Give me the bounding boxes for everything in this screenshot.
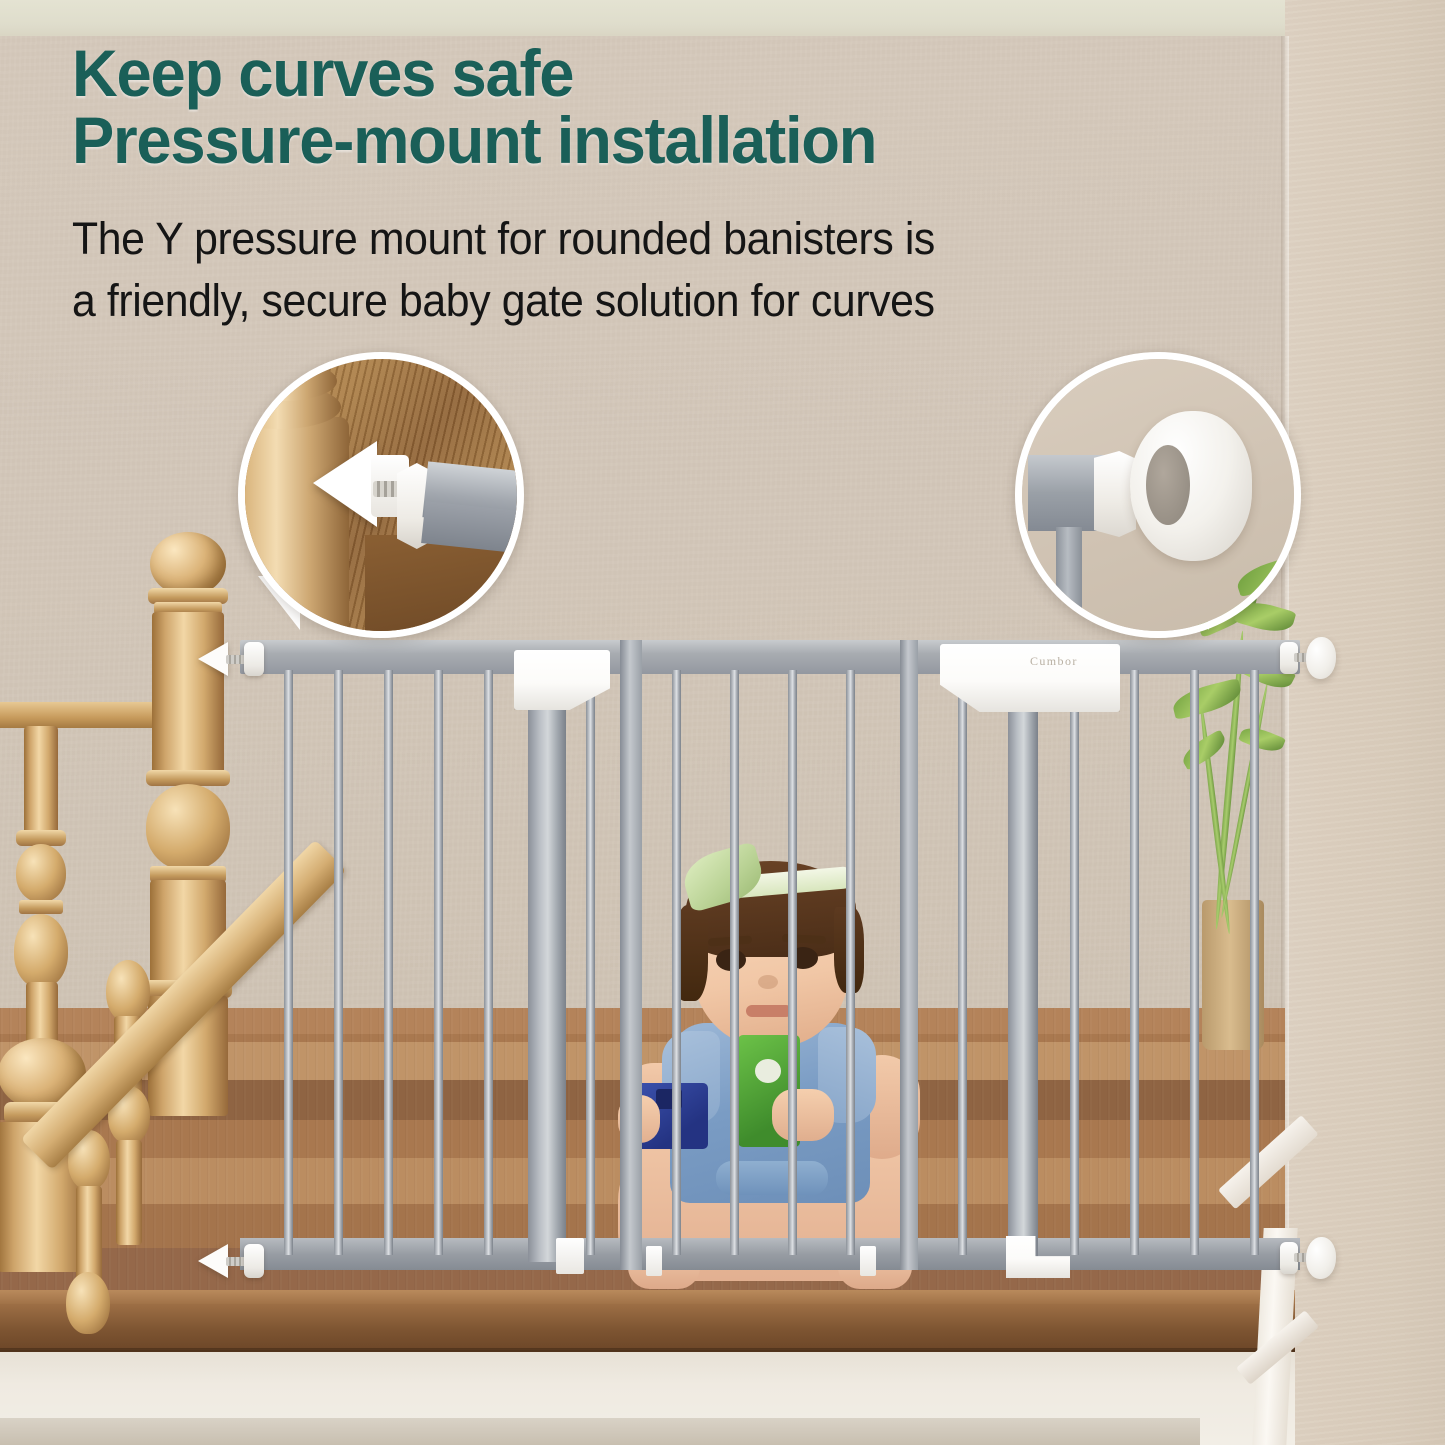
subhead-line-2: a friendly, secure baby gate solution fo…: [72, 270, 1241, 332]
page-title: Keep curves safe Pressure-mount installa…: [72, 40, 1205, 175]
ceiling-strip: [0, 0, 1445, 40]
newel-urn: [146, 784, 230, 870]
baluster-shaft: [76, 1186, 102, 1286]
gate-bar: [730, 670, 739, 1255]
gate-foot-clip: [646, 1246, 662, 1276]
baby-gate[interactable]: Cumbor: [240, 640, 1300, 1300]
gate-bar: [586, 670, 595, 1255]
gate-bar: [846, 670, 855, 1255]
headline-line-1: Keep curves safe: [72, 40, 1205, 107]
callout-right-gate-bar: [1056, 527, 1082, 627]
product-lifestyle-image: Cumbor: [0, 0, 1445, 1445]
gate-top-rail: [240, 640, 1300, 674]
gate-bar: [1130, 670, 1139, 1255]
gate-foot-clip: [860, 1246, 876, 1276]
gate-hinge-left-top: [514, 650, 610, 710]
gate-frame-post: [1008, 662, 1038, 1262]
baluster-urn: [66, 1272, 110, 1334]
gate-bar: [958, 670, 967, 1255]
gate-door-frame-right: [900, 640, 918, 1270]
page-subtitle: The Y pressure mount for rounded baniste…: [72, 208, 1241, 332]
headline-line-2: Pressure-mount installation: [72, 107, 1205, 174]
callout-right-cup-recess: [1146, 445, 1190, 525]
right-return-wall: [1285, 0, 1445, 1445]
baluster-shaft: [24, 726, 58, 844]
y-bracket-bottom-left-icon: [198, 1244, 228, 1278]
callout-right: [1015, 352, 1301, 638]
gate-bar: [672, 670, 681, 1255]
gate-bottom-rail: [240, 1238, 1300, 1270]
gate-bar: [788, 670, 797, 1255]
gate-foot-clip: [556, 1238, 584, 1274]
handrail-flat: [0, 702, 165, 728]
brand-label: Cumbor: [1030, 654, 1078, 669]
gate-bar: [1070, 670, 1079, 1255]
gate-bar: [1190, 670, 1199, 1255]
gate-bar: [334, 670, 343, 1255]
subhead-line-1: The Y pressure mount for rounded baniste…: [72, 208, 1241, 270]
gate-bar: [484, 670, 493, 1255]
gate-door-frame-left: [620, 640, 642, 1270]
mount-knob-bottom-left[interactable]: [244, 1244, 264, 1278]
callout-left-y-bracket-icon: [313, 441, 377, 527]
callout-left: [238, 352, 524, 638]
wall-cup-bottom-right: [1306, 1237, 1336, 1279]
gate-bar: [434, 670, 443, 1255]
gate-bar: [384, 670, 393, 1255]
mount-knob-top-left[interactable]: [244, 642, 264, 676]
wall-cup-top-right: [1306, 637, 1336, 679]
gate-frame-post: [528, 662, 566, 1262]
baluster-urn: [14, 914, 68, 988]
baluster-urn: [16, 844, 66, 902]
baluster-shaft: [116, 1140, 142, 1245]
newel-post-upper: [152, 612, 224, 774]
y-bracket-top-left-icon: [198, 642, 228, 676]
gate-bar: [1250, 670, 1259, 1255]
baluster-collar: [19, 900, 63, 914]
newel-cap-ball: [150, 532, 226, 596]
gate-bar: [284, 670, 293, 1255]
